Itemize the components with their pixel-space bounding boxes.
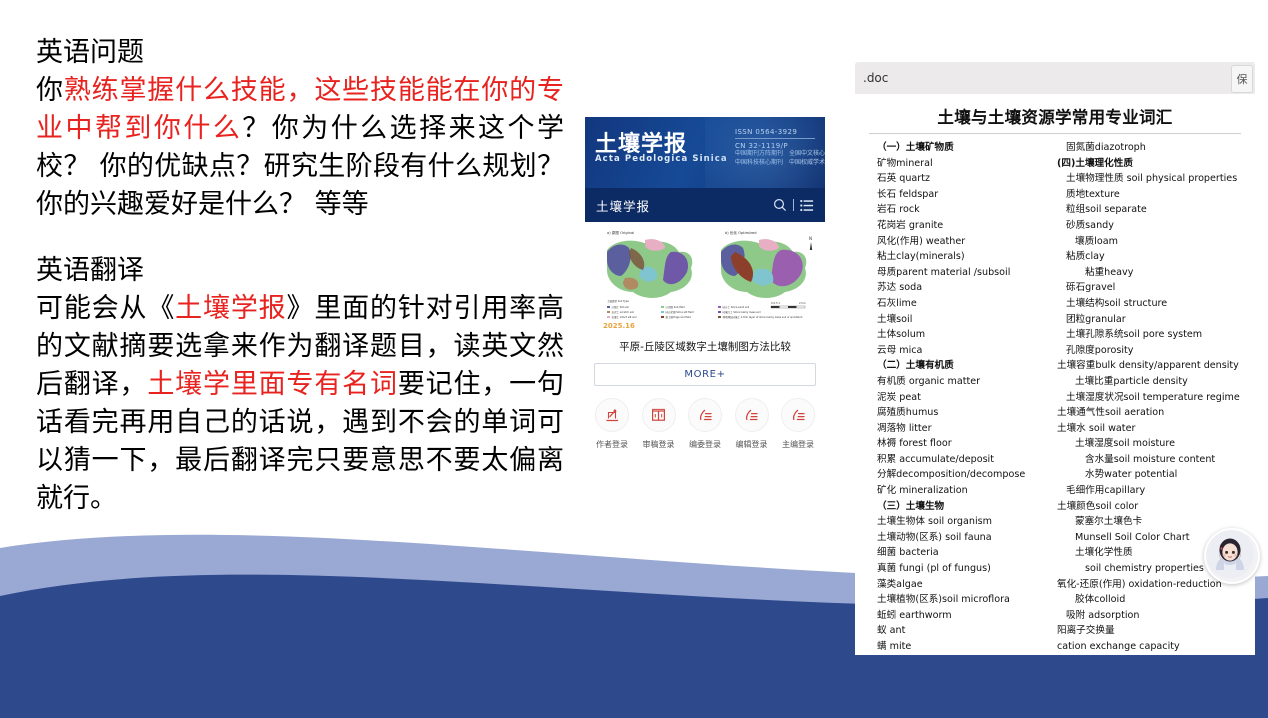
journal-cn-number: CN 32-1119/P <box>735 141 815 151</box>
glossary-entry-left-11: 土壤soil <box>877 312 1057 328</box>
glossary-entry-right-13: 孔隙度porosity <box>1057 343 1237 359</box>
glossary-entry-right-11: 团粒granular <box>1057 312 1237 328</box>
glossary-entry-right-20: 含水量soil moisture content <box>1057 452 1237 468</box>
glossary-entry-left-28: 藻类algae <box>877 577 1057 593</box>
glossary-entry-left-13: 云母 mica <box>877 343 1057 359</box>
review-login-icon <box>650 407 667 424</box>
document-save-button[interactable]: 保 <box>1231 65 1253 93</box>
glossary-entry-right-21: 水势water potential <box>1057 467 1237 483</box>
login-item-review[interactable]: 审稿登录 <box>639 398 679 450</box>
soil-map-svg: a) 原图 Original b) 优化 Optimized <box>585 222 825 334</box>
glossary-entry-left-18: 凋落物 litter <box>877 421 1057 437</box>
glossary-entry-right-2: 土壤物理性质 soil physical properties <box>1057 171 1237 187</box>
glossary-entry-left-20: 积累 accumulate/deposit <box>877 452 1057 468</box>
login-icon-wrap-review <box>642 398 676 432</box>
svg-text:灰泥土 scratch soil: 灰泥土 scratch soil <box>612 310 635 314</box>
svg-text:硅壤红土 Silica loamy loess soil: 硅壤红土 Silica loamy loess soil <box>723 310 761 314</box>
glossary-entry-left-9: 苏达 soda <box>877 280 1057 296</box>
glossary-entry-left-26: 细菌 bacteria <box>877 545 1057 561</box>
glossary-entry-left-15: 有机质 organic matter <box>877 374 1057 390</box>
login-label-chief-editor: 主编登录 <box>778 439 818 450</box>
journal-navbar: 土壤学报 <box>585 188 825 222</box>
svg-text:沙泥田 Sub field: 沙泥田 Sub field <box>666 305 686 309</box>
glossary-entry-right-16: 土壤湿度状况soil temperature regime <box>1057 390 1237 406</box>
glossary-entry-right-22: 毛细作用capillary <box>1057 483 1237 499</box>
glossary-entry-left-6: 风化(作用) weather <box>877 234 1057 250</box>
glossary-entry-right-6: 壤质loam <box>1057 234 1237 250</box>
glossary-entry-right-10: 土壤结构soil structure <box>1057 296 1237 312</box>
document-column-left: （一）土壤矿物质矿物mineral石英 quartz长石 feldspar岩石 … <box>877 140 1057 655</box>
glossary-entry-left-12: 土体solum <box>877 327 1057 343</box>
glossary-entry-right-3: 质地texture <box>1057 187 1237 203</box>
journal-badge-1: 全国中文核心期刊 <box>789 150 825 159</box>
glossary-entry-left-7: 粘土clay(minerals) <box>877 249 1057 265</box>
document-viewer: .doc 保 土壤与土壤资源学常用专业词汇 （一）土壤矿物质矿物mineral石… <box>855 62 1255 655</box>
glossary-entry-left-2: 石英 quartz <box>877 171 1057 187</box>
document-title-rule <box>869 133 1241 134</box>
svg-text:黄土田Huge soil field: 黄土田Huge soil field <box>666 315 692 319</box>
svg-text:N: N <box>809 236 812 241</box>
journal-badge-0: 中国期刊方阵期刊 <box>735 150 789 159</box>
search-icon[interactable] <box>773 198 787 212</box>
glossary-entry-left-27: 真菌 fungi (pl of fungus) <box>877 561 1057 577</box>
document-titlebar: .doc 保 <box>855 62 1255 94</box>
left-text-column: 英语问题 你熟练掌握什么技能，这些技能能在你的专业中帮到你什么？你为什么选择来这… <box>36 34 564 518</box>
editor-login-icon <box>743 407 760 424</box>
journal-figure-caption: 平原-丘陵区域数字土壤制图方法比较 <box>585 334 825 363</box>
glossary-entry-right-15: 土壤比重particle density <box>1057 374 1237 390</box>
journal-login-row: 作者登录 审稿登录 <box>585 386 825 450</box>
glossary-entry-left-25: 土壤动物(区系) soil fauna <box>877 530 1057 546</box>
map-right <box>721 239 806 298</box>
glossary-entry-left-22: 矿化 mineralization <box>877 483 1057 499</box>
avatar-illustration <box>1206 530 1254 578</box>
north-arrow-icon: N <box>809 236 812 250</box>
hamburger-menu-icon[interactable] <box>800 199 814 212</box>
document-column-right: 固氮菌diazotroph(四)土壤理化性质土壤物理性质 soil physic… <box>1057 140 1237 655</box>
paragraph-spacer <box>36 224 564 252</box>
glossary-entry-left-16: 泥炭 peat <box>877 390 1057 406</box>
journal-masthead: 土壤学报 Acta Pedologica Sinica ISSN 0564-39… <box>585 117 825 188</box>
glossary-entry-right-8: 粘重heavy <box>1057 265 1237 281</box>
glossary-entry-right-18: 土壤水 soil water <box>1057 421 1237 437</box>
section2-title: 英语翻译 <box>36 252 564 290</box>
svg-text:硅沙土 Silica sand soil: 硅沙土 Silica sand soil <box>723 305 750 309</box>
journal-navbar-icons <box>773 198 814 212</box>
glossary-entry-right-24: 蒙塞尔土壤色卡 <box>1057 514 1237 530</box>
document-file-extension: .doc <box>863 71 888 85</box>
svg-text:0 0.5 1: 0 0.5 1 <box>771 301 780 305</box>
glossary-entry-right-14: 土壤容重bulk density/apparent density <box>1057 358 1237 374</box>
glossary-entry-right-30: 吸附 adsorption <box>1057 608 1237 624</box>
section2-seg-0: 可能会从《 <box>36 293 175 324</box>
glossary-entry-left-29: 土壤植物(区系)soil microflora <box>877 592 1057 608</box>
glossary-entry-left-5: 花岗岩 granite <box>877 218 1057 234</box>
login-label-review: 审稿登录 <box>639 439 679 450</box>
figure-watermark: 2025.16 <box>603 322 635 330</box>
svg-text:林地薄层硅壤土 A thin layer of silica: 林地薄层硅壤土 A thin layer of silica loamy loe… <box>723 315 803 319</box>
journal-badges: 中国期刊方阵期刊全国中文核心期刊 中国科技核心期刊中国权威学术期刊 <box>735 150 825 167</box>
glossary-entry-right-32: cation exchange capacity <box>1057 639 1237 655</box>
glossary-entry-left-17: 腐殖质humus <box>877 405 1057 421</box>
login-item-editor[interactable]: 编辑登录 <box>732 398 772 450</box>
issn-divider <box>735 138 815 139</box>
journal-navbar-title: 土壤学报 <box>596 196 650 215</box>
more-button[interactable]: MORE+ <box>594 363 816 386</box>
section2-seg-1: 土壤学报 <box>175 293 286 324</box>
presentation-slide: 英语问题 你熟练掌握什么技能，这些技能能在你的专业中帮到你什么？你为什么选择来这… <box>0 0 1268 718</box>
document-body: 土壤与土壤资源学常用专业词汇 （一）土壤矿物质矿物mineral石英 quart… <box>855 94 1255 655</box>
glossary-entry-left-21: 分解decomposition/decompose <box>877 467 1057 483</box>
editorial-board-login-icon <box>697 407 714 424</box>
login-label-author: 作者登录 <box>592 439 632 450</box>
login-icon-wrap-editor <box>735 398 769 432</box>
journal-name-en: Acta Pedologica Sinica <box>595 154 728 164</box>
navbar-divider <box>792 198 795 212</box>
journal-issn-block: ISSN 0564-3929 CN 32-1119/P <box>735 127 815 151</box>
login-icon-wrap-author <box>595 398 629 432</box>
glossary-entry-left-23: （三）土壤生物 <box>877 499 1057 515</box>
figure-label-left: a) 原图 Original <box>607 230 634 235</box>
journal-figure-soil-maps: a) 原图 Original b) 优化 Optimized <box>585 222 825 334</box>
glossary-entry-right-9: 砾石gravel <box>1057 280 1237 296</box>
glossary-entry-right-1: (四)土壤理化性质 <box>1057 156 1237 172</box>
figure-label-right: b) 优化 Optimized <box>725 230 757 235</box>
login-item-chief-editor[interactable]: 主编登录 <box>778 398 818 450</box>
glossary-entry-right-4: 粒组soil separate <box>1057 202 1237 218</box>
login-icon-wrap-chief-editor <box>781 398 815 432</box>
glossary-entry-left-32: 螨 mite <box>877 639 1057 655</box>
section1-body: 你熟练掌握什么技能，这些技能能在你的专业中帮到你什么？你为什么选择来这个学校？ … <box>36 72 564 224</box>
journal-website-screenshot: 土壤学报 Acta Pedologica Sinica ISSN 0564-39… <box>585 117 825 450</box>
journal-badge-3: 中国权威学术期刊 <box>789 159 825 168</box>
glossary-entry-right-17: 土壤通气性soil aeration <box>1057 405 1237 421</box>
glossary-entry-right-28: 氧化-还原(作用) oxidation-reduction <box>1057 577 1237 593</box>
glossary-entry-left-1: 矿物mineral <box>877 156 1057 172</box>
svg-text:沙田土 Silt soil: 沙田土 Silt soil <box>612 305 630 309</box>
glossary-entry-right-0: 固氮菌diazotroph <box>1057 140 1237 156</box>
glossary-entry-right-7: 粘质clay <box>1057 249 1237 265</box>
svg-text:土壤类型 Soil Type: 土壤类型 Soil Type <box>607 299 629 303</box>
glossary-entry-left-0: （一）土壤矿物质 <box>877 140 1057 156</box>
login-label-board: 编委登录 <box>685 439 725 450</box>
login-label-editor: 编辑登录 <box>732 439 772 450</box>
journal-issn: ISSN 0564-3929 <box>735 127 815 137</box>
login-icon-wrap-board <box>688 398 722 432</box>
glossary-entry-left-8: 母质parent material /subsoil <box>877 265 1057 281</box>
section1-seg-0: 你 <box>36 75 64 106</box>
glossary-entry-right-19: 土壤湿度soil moisture <box>1057 436 1237 452</box>
section2-seg-3: 土壤学里面专有名词 <box>147 369 398 400</box>
glossary-entry-left-3: 长石 feldspar <box>877 187 1057 203</box>
document-title: 土壤与土壤资源学常用专业词汇 <box>855 100 1255 133</box>
glossary-entry-left-4: 岩石 rock <box>877 202 1057 218</box>
svg-text:2 km: 2 km <box>799 301 806 305</box>
map-left <box>607 239 692 298</box>
glossary-entry-left-31: 蚁 ant <box>877 623 1057 639</box>
glossary-entry-right-12: 土壤孔隙系统soil pore system <box>1057 327 1237 343</box>
login-item-author[interactable]: 作者登录 <box>592 398 632 450</box>
map-scale-bar: 0 0.5 1 2 km <box>771 301 806 308</box>
section1-title: 英语问题 <box>36 34 564 72</box>
section2-body: 可能会从《土壤学报》里面的针对引用率高的文献摘要选拿来作为翻译题目，读英文然后翻… <box>36 290 564 518</box>
glossary-entry-right-29: 胶体colloid <box>1057 592 1237 608</box>
svg-text:灰潮土 intact silt soil: 灰潮土 intact silt soil <box>612 315 637 319</box>
presenter-avatar[interactable] <box>1204 528 1260 584</box>
document-columns: （一）土壤矿物质矿物mineral石英 quartz长石 feldspar岩石 … <box>855 140 1255 655</box>
glossary-entry-left-10: 石灰lime <box>877 296 1057 312</box>
glossary-entry-left-30: 蚯蚓 earthworm <box>877 608 1057 624</box>
glossary-entry-right-5: 砂质sandy <box>1057 218 1237 234</box>
glossary-entry-right-23: 土壤颜色soil color <box>1057 499 1237 515</box>
journal-badge-2: 中国科技核心期刊 <box>735 159 789 168</box>
glossary-entry-left-14: （二）土壤有机质 <box>877 358 1057 374</box>
author-login-icon <box>604 407 621 424</box>
glossary-entry-right-31: 阳离子交换量 <box>1057 623 1237 639</box>
svg-text:硅沙泥田 Silica silt field: 硅沙泥田 Silica silt field <box>666 310 694 314</box>
glossary-entry-left-24: 土壤生物体 soil organism <box>877 514 1057 530</box>
glossary-entry-left-19: 林褥 forest floor <box>877 436 1057 452</box>
login-item-board[interactable]: 编委登录 <box>685 398 725 450</box>
chief-editor-login-icon <box>790 407 807 424</box>
